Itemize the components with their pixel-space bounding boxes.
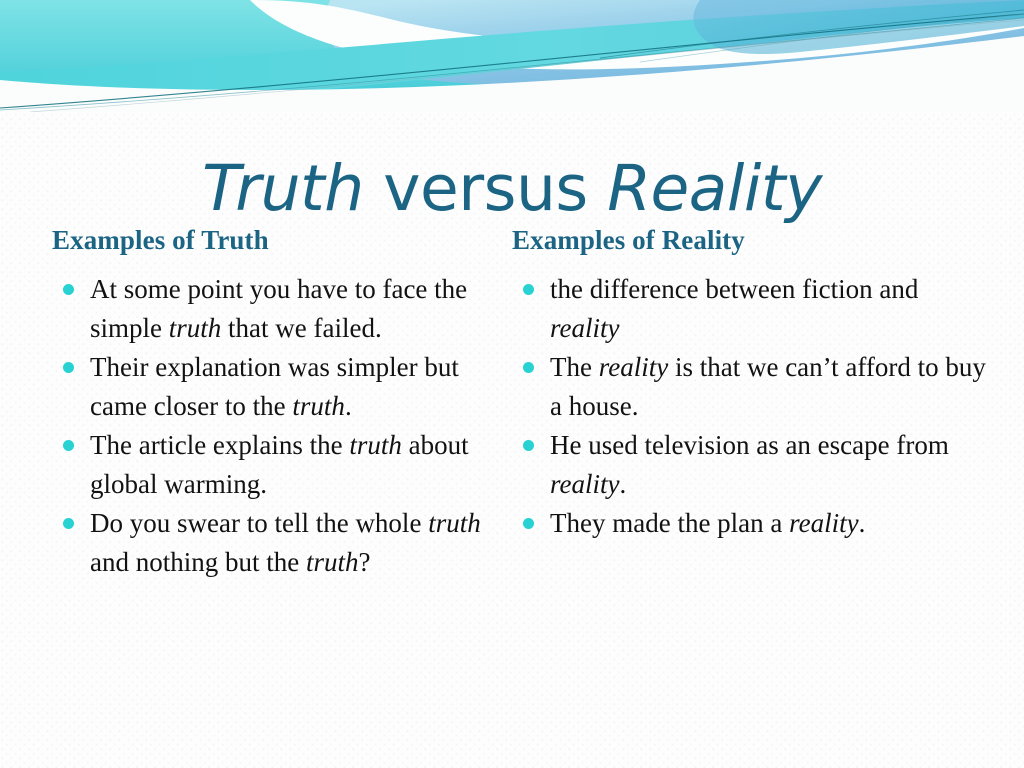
bullet-dot-icon	[63, 518, 74, 529]
emphasized-term: truth	[349, 430, 402, 460]
page-title-separator: versus	[364, 152, 608, 225]
column-truth: Examples of Truth At some point you have…	[0, 224, 504, 582]
emphasized-term: truth	[306, 547, 359, 577]
bullet-dot-icon	[63, 284, 74, 295]
column-heading-truth: Examples of Truth	[52, 224, 492, 256]
bullet-list-truth: At some point you have to face the simpl…	[52, 270, 492, 581]
emphasized-term: reality	[550, 469, 619, 499]
emphasized-term: truth	[292, 391, 345, 421]
slide-canvas: Truth versus Reality Examples of Truth A…	[0, 0, 1024, 768]
page-title-word-truth: Truth	[202, 152, 364, 225]
bullet-text: They made the plan a reality.	[550, 508, 865, 538]
bullet-text: The reality is that we can’t afford to b…	[550, 352, 986, 421]
bullet-dot-icon	[523, 440, 534, 451]
bullet-item: The article explains the truth about glo…	[52, 426, 492, 503]
bullet-dot-icon	[523, 362, 534, 373]
two-column-body: Examples of Truth At some point you have…	[0, 224, 1024, 582]
bullet-dot-icon	[63, 362, 74, 373]
bullet-text: Do you swear to tell the whole truth and…	[90, 508, 481, 577]
bullet-item: The reality is that we can’t afford to b…	[512, 348, 994, 425]
emphasized-term: reality	[599, 352, 668, 382]
bullet-text: Their explanation was simpler but came c…	[90, 352, 459, 421]
bullet-item: He used television as an escape from rea…	[512, 426, 994, 503]
bullet-dot-icon	[63, 440, 74, 451]
bullet-item: the difference between fiction and reali…	[512, 270, 994, 347]
emphasized-term: truth	[169, 313, 222, 343]
wave-graphic-icon	[0, 0, 1024, 112]
bullet-text: At some point you have to face the simpl…	[90, 274, 467, 343]
page-title-word-reality: Reality	[607, 152, 822, 225]
page-title: Truth versus Reality	[0, 152, 1024, 226]
bullet-text: The article explains the truth about glo…	[90, 430, 469, 499]
column-reality: Examples of Reality the difference betwe…	[504, 224, 1024, 544]
bullet-item: Their explanation was simpler but came c…	[52, 348, 492, 425]
bullet-dot-icon	[523, 518, 534, 529]
emphasized-term: reality	[789, 508, 858, 538]
bullet-list-reality: the difference between fiction and reali…	[512, 270, 994, 543]
emphasized-term: truth	[428, 508, 481, 538]
bullet-dot-icon	[523, 284, 534, 295]
bullet-text: He used television as an escape from rea…	[550, 430, 949, 499]
column-heading-reality: Examples of Reality	[512, 224, 994, 256]
bullet-text: the difference between fiction and reali…	[550, 274, 918, 343]
wave-banner-decoration	[0, 0, 1024, 112]
bullet-item: At some point you have to face the simpl…	[52, 270, 492, 347]
bullet-item: They made the plan a reality.	[512, 504, 994, 543]
emphasized-term: reality	[550, 313, 619, 343]
bullet-item: Do you swear to tell the whole truth and…	[52, 504, 492, 581]
